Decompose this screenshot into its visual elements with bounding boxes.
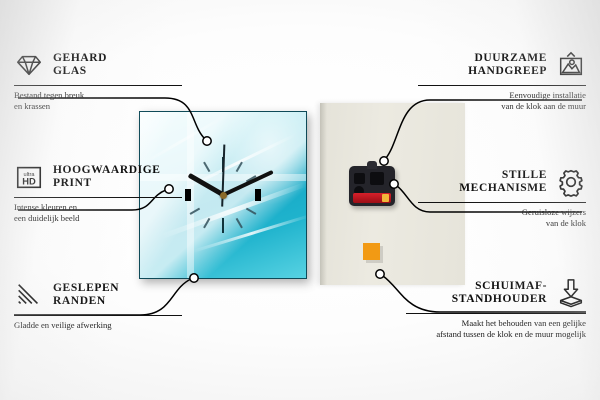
feature-duurzame-handgreep: DUURZAME HANDGREEP Eenvoudige installati… xyxy=(418,48,586,112)
light-streak xyxy=(139,114,227,166)
feature-header: SCHUIMAF- STANDHOUDER xyxy=(406,276,586,310)
feature-title: SCHUIMAF- STANDHOUDER xyxy=(452,280,547,306)
feature-divider xyxy=(418,85,586,86)
feature-divider xyxy=(406,313,586,314)
feature-description: Geruisloze wijzers van de klok xyxy=(418,207,586,229)
feature-description: Maakt het behouden van een gelijke afsta… xyxy=(406,318,586,340)
feature-header: GEHARD GLAS xyxy=(14,48,182,82)
feature-title: STILLE MECHANISME xyxy=(459,169,547,195)
feature-title: HOOGWAARDIGE PRINT xyxy=(53,164,161,190)
feature-geslepen-randen: GESLEPEN RANDEN Gladde en veilige afwerk… xyxy=(14,278,182,331)
feature-description: Gladde en veilige afwerking xyxy=(14,320,182,331)
infographic-canvas: GEHARD GLAS Bestand tegen breuk en krass… xyxy=(0,0,600,400)
diamond-icon xyxy=(14,50,44,80)
press-down-pad-icon xyxy=(556,278,586,308)
feature-description: Bestand tegen breuk en krassen xyxy=(14,90,182,112)
feature-hoogwaardige-print: ultra HD HOOGWAARDIGE PRINT Intense kleu… xyxy=(14,160,182,224)
mechanism-detail xyxy=(370,172,384,185)
feature-title: DUURZAME HANDGREEP xyxy=(468,52,547,78)
foam-spacer xyxy=(363,243,380,260)
feature-divider xyxy=(14,315,182,316)
ultra-hd-icon: ultra HD xyxy=(14,162,44,192)
feature-divider xyxy=(14,197,182,198)
beveled-edge-icon xyxy=(14,280,44,310)
feature-header: GESLEPEN RANDEN xyxy=(14,278,182,312)
feature-header: DUURZAME HANDGREEP xyxy=(418,48,586,82)
feature-title: GESLEPEN RANDEN xyxy=(53,282,119,308)
feature-gehard-glas: GEHARD GLAS Bestand tegen breuk en krass… xyxy=(14,48,182,112)
hand-cap xyxy=(220,192,227,199)
feature-divider xyxy=(14,85,182,86)
clock-mechanism xyxy=(349,166,395,206)
svg-text:HD: HD xyxy=(22,177,36,187)
feature-schuimaf-standhouder: SCHUIMAF- STANDHOUDER Maakt het behouden… xyxy=(406,276,586,340)
mechanism-hanger xyxy=(367,161,377,169)
feature-divider xyxy=(418,202,586,203)
feature-stille-mechanisme: STILLE MECHANISME Geruisloze wijzers van… xyxy=(418,165,586,229)
wall-mount-picture-icon xyxy=(556,50,586,80)
feature-header: STILLE MECHANISME xyxy=(418,165,586,199)
feature-description: Eenvoudige installatie van de klok aan d… xyxy=(418,90,586,112)
feature-description: Intense kleuren en een duidelijk beeld xyxy=(14,202,182,224)
mechanism-detail xyxy=(354,173,365,184)
feature-title: GEHARD GLAS xyxy=(53,52,107,78)
feature-header: ultra HD HOOGWAARDIGE PRINT xyxy=(14,160,182,194)
gear-icon xyxy=(556,167,586,197)
battery xyxy=(353,193,391,203)
